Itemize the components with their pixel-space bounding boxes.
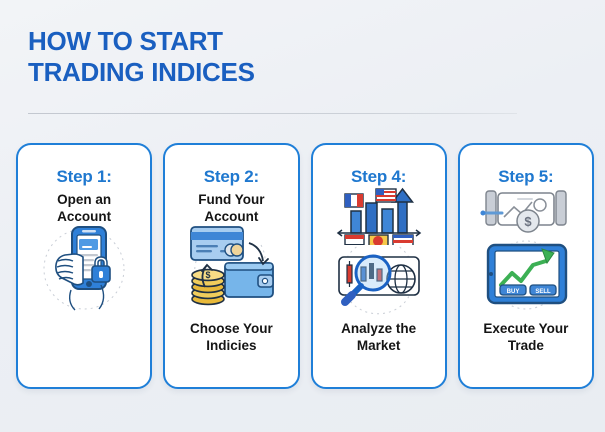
step-card-3[interactable]: Step 4: [311,143,447,389]
buy-button-icon: BUY [500,285,526,295]
fund-account-icon-group: $ [165,219,297,311]
globe-icon [387,265,415,293]
lock-icon [92,257,110,282]
step-label: Step 5: [460,167,592,187]
buy-button-label: BUY [507,289,520,295]
header-divider [28,113,517,114]
flag-usa-icon [376,189,396,202]
step-card-2[interactable]: Step 2: Fund Your Account [163,143,299,389]
flag-japan-icon [369,235,388,245]
sell-button-icon: SELL [530,285,556,295]
step-foot-line-2: Trade [460,337,592,355]
bar-chart-flags-icon [313,187,445,245]
tablet-uptrend-icon: BUY SELL [460,237,592,317]
magnifier-candlestick-icon [313,245,445,315]
hand-holding-phone-icon [18,221,150,317]
flag-norway-icon [393,235,413,245]
step-label: Step 1: [18,167,150,187]
step-label: Step 2: [165,167,297,187]
page-title: HOW TO START TRADING INDICES [28,26,548,87]
step-foot-line-2: Market [313,337,445,355]
step-card-1[interactable]: Step 1: Open an Account [16,143,152,389]
step-foot-line-1: Choose Your [165,320,297,338]
title-line-1: HOW TO START [28,26,548,57]
step-head-line-1: Open an [26,192,142,209]
sell-button-label: SELL [535,289,551,295]
wallet-icon [225,263,273,297]
flag-france-icon [345,194,363,207]
monitor-dollar-icon: $ [460,187,592,239]
step-foot-line-1: Analyze the [313,320,445,338]
steps-row: Step 1: Open an Account [16,143,594,389]
coin-stack-icon: $ [192,270,224,305]
step-foot-line-1: Execute Your [460,320,592,338]
flag-egypt-icon [345,235,364,245]
svg-text:$: $ [524,214,532,229]
step-head-line-1: Fund Your [173,192,289,209]
svg-text:$: $ [206,270,211,280]
step-foot-line-2: Indicies [165,337,297,355]
credit-card-icon [191,227,243,260]
step-card-4[interactable]: Step 5: $ [458,143,594,389]
title-line-2: TRADING INDICES [28,57,548,88]
step-label: Step 4: [313,167,445,187]
